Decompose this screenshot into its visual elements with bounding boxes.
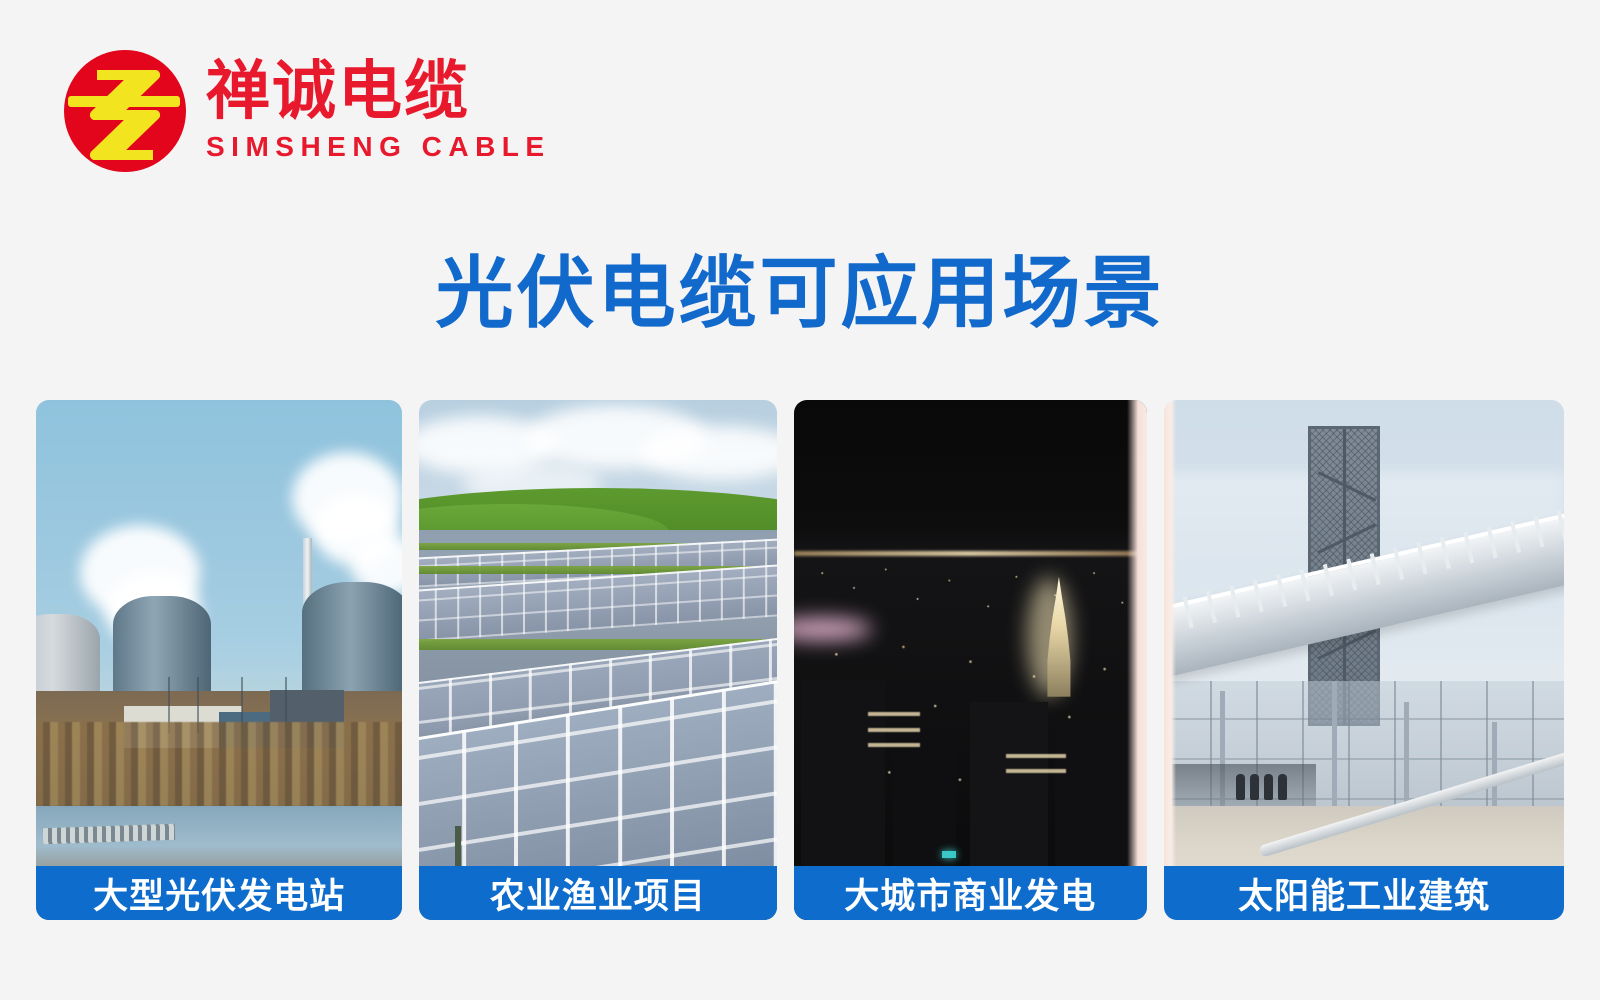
brand-name-cn: 禅诚电缆 [206, 59, 551, 126]
scenario-card-metropolis-commercial[interactable]: 大城市商业发电 [794, 400, 1147, 920]
coal-power-station-cooling-towers-photo [36, 400, 402, 920]
page-title: 光伏电缆可应用场景 [0, 252, 1600, 338]
scenario-card-agriculture-fishery[interactable]: 农业渔业项目 [419, 400, 776, 920]
city-skyline-at-night-photo [794, 400, 1147, 920]
brand-logo-block: 禅诚电缆 SIMSHENG CABLE [62, 48, 551, 174]
scenario-card-row: 大型光伏发电站 农业渔业项目 [36, 400, 1564, 920]
brand-wordmark: 禅诚电缆 SIMSHENG CABLE [206, 59, 551, 164]
agricultural-solar-farm-photo [419, 400, 776, 920]
card-caption: 大城市商业发电 [794, 866, 1147, 920]
scenario-card-solar-industrial-building[interactable]: 太阳能工业建筑 [1164, 400, 1564, 920]
solar-industrial-building-photo [1164, 400, 1564, 920]
double-z-lightning-logo-icon [62, 48, 188, 174]
card-caption: 太阳能工业建筑 [1164, 866, 1564, 920]
brand-name-en: SIMSHENG CABLE [206, 130, 551, 164]
scenario-card-power-station[interactable]: 大型光伏发电站 [36, 400, 402, 920]
card-caption: 大型光伏发电站 [36, 866, 402, 920]
card-caption: 农业渔业项目 [419, 866, 776, 920]
